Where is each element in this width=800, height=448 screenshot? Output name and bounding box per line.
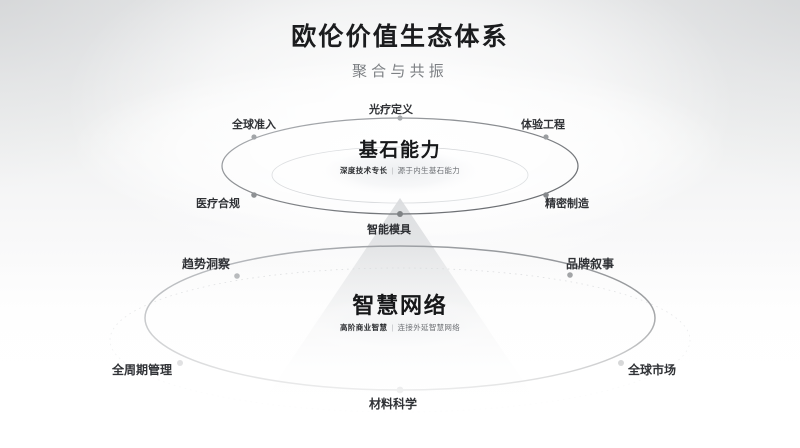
node-dot-ring2-topleft[interactable] xyxy=(234,273,240,279)
node-dot-ring1-bottom[interactable] xyxy=(397,211,403,217)
core-network-desc: 连接外延智慧网络 xyxy=(398,323,460,332)
node-dot-ring2-bottom[interactable] xyxy=(397,387,404,394)
node-dot-ring1-top[interactable] xyxy=(397,115,402,120)
core-network-separator: | xyxy=(391,323,393,332)
node-label-ring2-bottom[interactable]: 材料科学 xyxy=(369,398,417,410)
node-dot-ring2-bottomleft[interactable] xyxy=(177,360,183,366)
node-label-ring2-bottomleft[interactable]: 全周期管理 xyxy=(112,364,172,376)
core-foundation: 基石能力 深度技术专长|源于内生基石能力 xyxy=(240,141,560,178)
node-label-ring2-topright[interactable]: 品牌叙事 xyxy=(566,258,614,270)
node-label-ring2-bottomright[interactable]: 全球市场 xyxy=(628,364,676,376)
core-network-title: 智慧网络 xyxy=(240,295,560,317)
core-network: 智慧网络 高阶商业智慧|连接外延智慧网络 xyxy=(240,295,560,335)
core-network-tagline: 高阶商业智慧|连接外延智慧网络 xyxy=(340,324,460,332)
node-label-ring1-bottom[interactable]: 智能模具 xyxy=(367,225,411,236)
diagram-stage: 欧伦价值生态体系 聚合与共振 基石能力 深度技术专长|源于内生基石能力 智慧网络… xyxy=(0,0,800,448)
node-dot-ring1-bottomright[interactable] xyxy=(543,192,549,198)
page-subtitle: 聚合与共振 xyxy=(0,60,800,81)
node-label-ring1-top[interactable]: 光疗定义 xyxy=(369,105,413,116)
header: 欧伦价值生态体系 聚合与共振 xyxy=(0,0,800,81)
core-foundation-title: 基石能力 xyxy=(240,141,560,160)
node-label-ring1-bottomright[interactable]: 精密制造 xyxy=(545,199,589,210)
node-dot-ring2-bottomright[interactable] xyxy=(618,360,624,366)
page-title: 欧伦价值生态体系 xyxy=(0,22,800,53)
core-foundation-desc: 源于内生基石能力 xyxy=(398,166,460,175)
node-dot-ring1-topright[interactable] xyxy=(543,134,548,139)
node-label-ring2-topleft[interactable]: 趋势洞察 xyxy=(182,258,230,270)
core-network-tag: 高阶商业智慧 xyxy=(340,323,387,332)
core-foundation-tag: 深度技术专长 xyxy=(340,166,387,175)
node-dot-ring1-bottomleft[interactable] xyxy=(251,192,257,198)
core-foundation-tagline: 深度技术专长|源于内生基石能力 xyxy=(340,167,460,175)
node-label-ring1-topright[interactable]: 体验工程 xyxy=(521,120,565,131)
node-label-ring1-topleft[interactable]: 全球准入 xyxy=(232,120,276,131)
node-dot-ring2-topright[interactable] xyxy=(567,272,573,278)
node-dot-ring1-topleft[interactable] xyxy=(251,134,256,139)
core-foundation-separator: | xyxy=(391,166,393,175)
node-label-ring1-bottomleft[interactable]: 医疗合规 xyxy=(196,199,240,210)
